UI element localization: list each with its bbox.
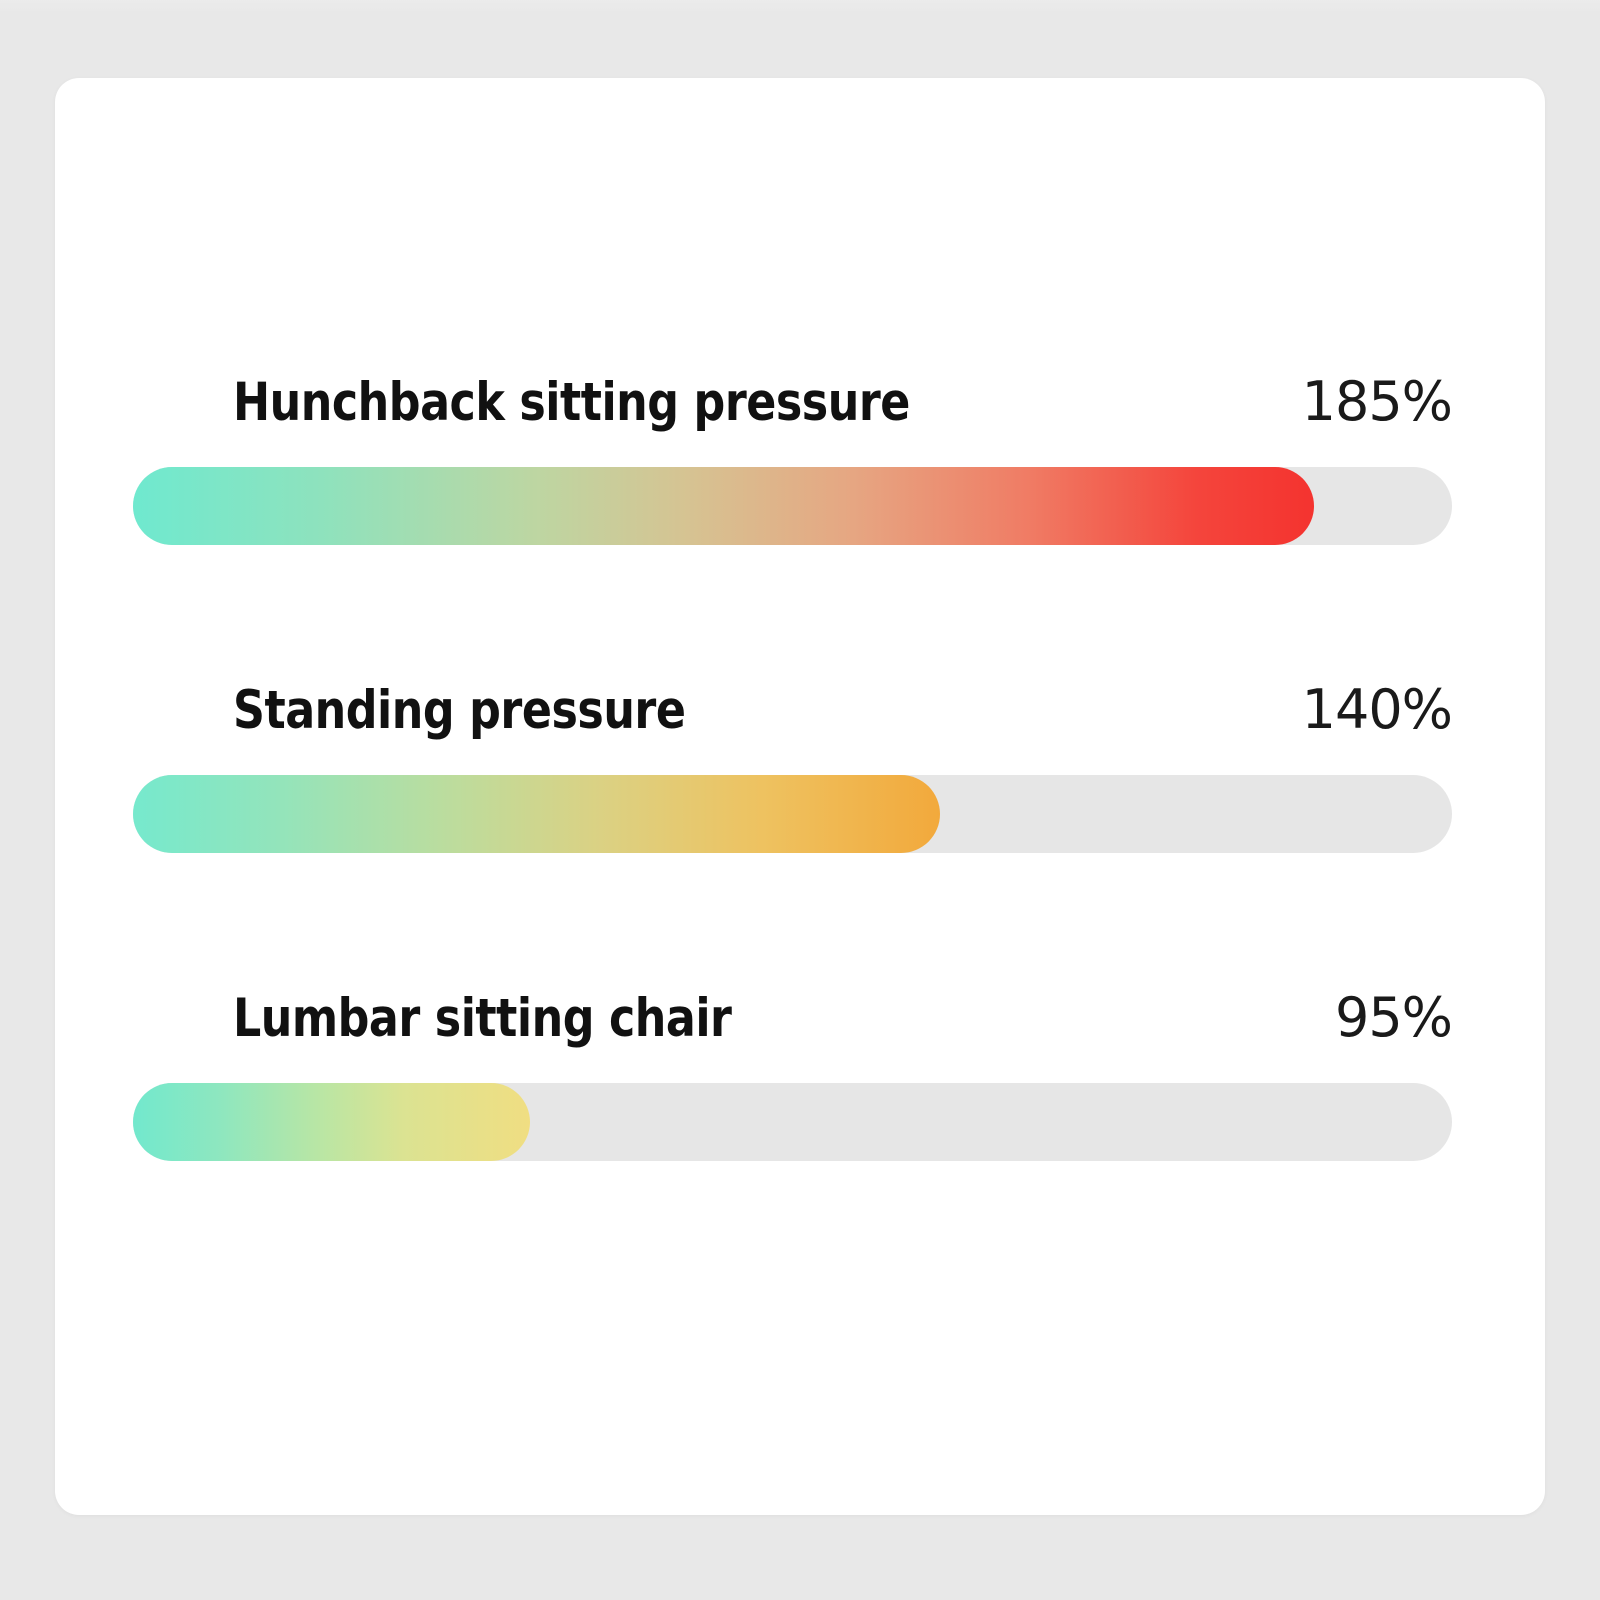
progress-track[interactable] <box>133 467 1452 545</box>
metric-row: Hunchback sitting pressure 185% <box>133 365 1452 545</box>
metrics-list: Hunchback sitting pressure 185% Standing… <box>55 78 1545 1515</box>
metric-header: Hunchback sitting pressure 185% <box>133 365 1452 439</box>
metric-header: Lumbar sitting chair 95% <box>133 981 1452 1055</box>
top-edge-artifact <box>0 0 1600 14</box>
metric-label: Lumbar sitting chair <box>233 992 731 1045</box>
progress-track[interactable] <box>133 1083 1452 1161</box>
progress-track[interactable] <box>133 775 1452 853</box>
metrics-card: Hunchback sitting pressure 185% Standing… <box>55 78 1545 1515</box>
progress-fill <box>133 1083 530 1161</box>
metric-label: Hunchback sitting pressure <box>233 376 910 429</box>
metric-label: Standing pressure <box>233 684 685 737</box>
metric-value: 140% <box>1302 683 1452 737</box>
progress-fill <box>133 467 1314 545</box>
metric-row: Standing pressure 140% <box>133 673 1452 853</box>
progress-fill <box>133 775 940 853</box>
metric-value: 95% <box>1335 991 1452 1045</box>
metric-header: Standing pressure 140% <box>133 673 1452 747</box>
metric-row: Lumbar sitting chair 95% <box>133 981 1452 1161</box>
metric-value: 185% <box>1302 375 1452 429</box>
